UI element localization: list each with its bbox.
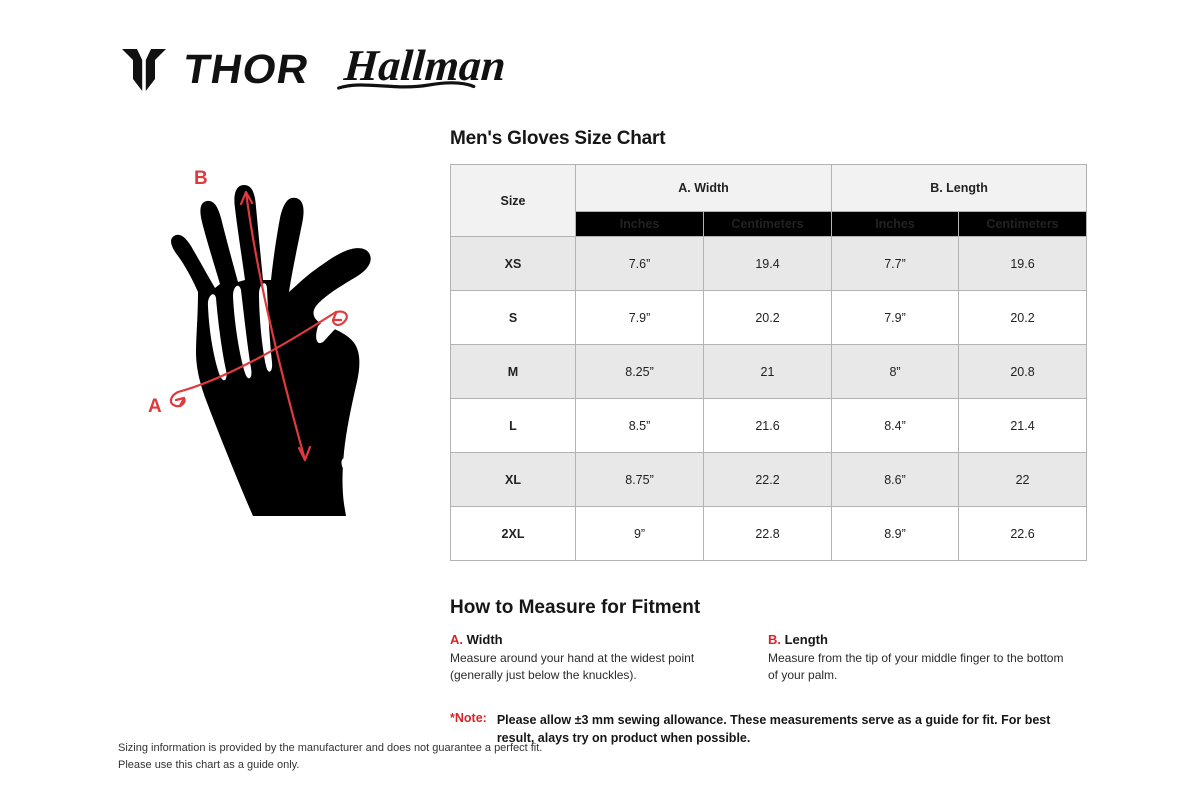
table-row: XL 8.75” 22.2 8.6” 22 bbox=[451, 453, 1087, 507]
header-width-inches: Inches bbox=[576, 212, 704, 237]
cell-length-cm: 19.6 bbox=[959, 237, 1087, 291]
brand-logo-bar: THOR Hallman bbox=[118, 38, 510, 100]
cell-length-in: 7.7” bbox=[832, 237, 959, 291]
cell-size: 2XL bbox=[451, 507, 576, 561]
cell-length-cm: 20.2 bbox=[959, 291, 1087, 345]
measure-width-text: Measure around your hand at the widest p… bbox=[450, 650, 750, 685]
cell-length-cm: 20.8 bbox=[959, 345, 1087, 399]
cell-length-in: 8.9” bbox=[832, 507, 959, 561]
measure-length-name: Length bbox=[781, 632, 828, 647]
table-row: XS 7.6” 19.4 7.7” 19.6 bbox=[451, 237, 1087, 291]
page-title: Men's Gloves Size Chart bbox=[450, 128, 1086, 150]
measure-width-letter: A. bbox=[450, 632, 463, 647]
header-size: Size bbox=[451, 165, 576, 237]
diagram-label-b: B bbox=[194, 168, 208, 189]
header-group-length: B. Length bbox=[832, 165, 1087, 212]
how-to-measure-section: How to Measure for Fitment A. Width Meas… bbox=[450, 597, 1086, 747]
note-label: *Note: bbox=[450, 711, 487, 725]
cell-length-in: 8.6” bbox=[832, 453, 959, 507]
cell-size: L bbox=[451, 399, 576, 453]
cell-size: M bbox=[451, 345, 576, 399]
note-row: *Note: Please allow ±3 mm sewing allowan… bbox=[450, 711, 1086, 747]
cell-width-in: 8.25” bbox=[576, 345, 704, 399]
cell-width-in: 7.9” bbox=[576, 291, 704, 345]
disclaimer-line-2: Please use this chart as a guide only. bbox=[118, 757, 542, 774]
size-chart-table: Size A. Width B. Length Inches Centimete… bbox=[450, 164, 1087, 561]
cell-length-in: 8” bbox=[832, 345, 959, 399]
cell-width-cm: 20.2 bbox=[704, 291, 832, 345]
cell-width-cm: 22.8 bbox=[704, 507, 832, 561]
measure-column-width: A. Width Measure around your hand at the… bbox=[450, 632, 768, 685]
disclaimer-footer: Sizing information is provided by the ma… bbox=[118, 740, 542, 773]
table-row: M 8.25” 21 8” 20.8 bbox=[451, 345, 1087, 399]
hand-measurement-diagram: B A bbox=[120, 160, 430, 540]
cell-width-in: 9” bbox=[576, 507, 704, 561]
cell-width-cm: 19.4 bbox=[704, 237, 832, 291]
measure-width-heading: A. Width bbox=[450, 632, 768, 647]
header-length-inches: Inches bbox=[832, 212, 959, 237]
table-row: 2XL 9” 22.8 8.9” 22.6 bbox=[451, 507, 1087, 561]
cell-length-cm: 21.4 bbox=[959, 399, 1087, 453]
size-chart-panel: Men's Gloves Size Chart Size A. Width B.… bbox=[450, 128, 1086, 747]
cell-length-in: 7.9” bbox=[832, 291, 959, 345]
disclaimer-line-1: Sizing information is provided by the ma… bbox=[118, 740, 542, 757]
cell-length-cm: 22.6 bbox=[959, 507, 1087, 561]
hallman-logo: Hallman bbox=[338, 44, 511, 94]
cell-length-cm: 22 bbox=[959, 453, 1087, 507]
cell-width-cm: 22.2 bbox=[704, 453, 832, 507]
cell-length-in: 8.4” bbox=[832, 399, 959, 453]
cell-width-cm: 21.6 bbox=[704, 399, 832, 453]
cell-width-in: 8.5” bbox=[576, 399, 704, 453]
hallman-swash-icon bbox=[337, 78, 478, 92]
thor-shield-icon bbox=[118, 43, 170, 95]
cell-width-cm: 21 bbox=[704, 345, 832, 399]
diagram-label-a: A bbox=[148, 396, 162, 417]
how-to-measure-title: How to Measure for Fitment bbox=[450, 597, 1086, 619]
measure-column-length: B. Length Measure from the tip of your m… bbox=[768, 632, 1086, 685]
cell-width-in: 7.6” bbox=[576, 237, 704, 291]
header-width-centimeters: Centimeters bbox=[704, 212, 832, 237]
table-row: S 7.9” 20.2 7.9” 20.2 bbox=[451, 291, 1087, 345]
cell-size: S bbox=[451, 291, 576, 345]
cell-size: XS bbox=[451, 237, 576, 291]
cell-width-in: 8.75” bbox=[576, 453, 704, 507]
table-group-header-row: Size A. Width B. Length bbox=[451, 165, 1087, 212]
table-row: L 8.5” 21.6 8.4” 21.4 bbox=[451, 399, 1087, 453]
measure-length-heading: B. Length bbox=[768, 632, 1086, 647]
header-group-width: A. Width bbox=[576, 165, 832, 212]
measure-length-letter: B. bbox=[768, 632, 781, 647]
note-text: Please allow ±3 mm sewing allowance. The… bbox=[497, 711, 1079, 747]
thor-wordmark: THOR bbox=[181, 49, 313, 90]
header-length-centimeters: Centimeters bbox=[959, 212, 1087, 237]
measure-length-text: Measure from the tip of your middle fing… bbox=[768, 650, 1068, 685]
thor-logo: THOR bbox=[118, 43, 304, 95]
cell-size: XL bbox=[451, 453, 576, 507]
measure-width-name: Width bbox=[463, 632, 503, 647]
